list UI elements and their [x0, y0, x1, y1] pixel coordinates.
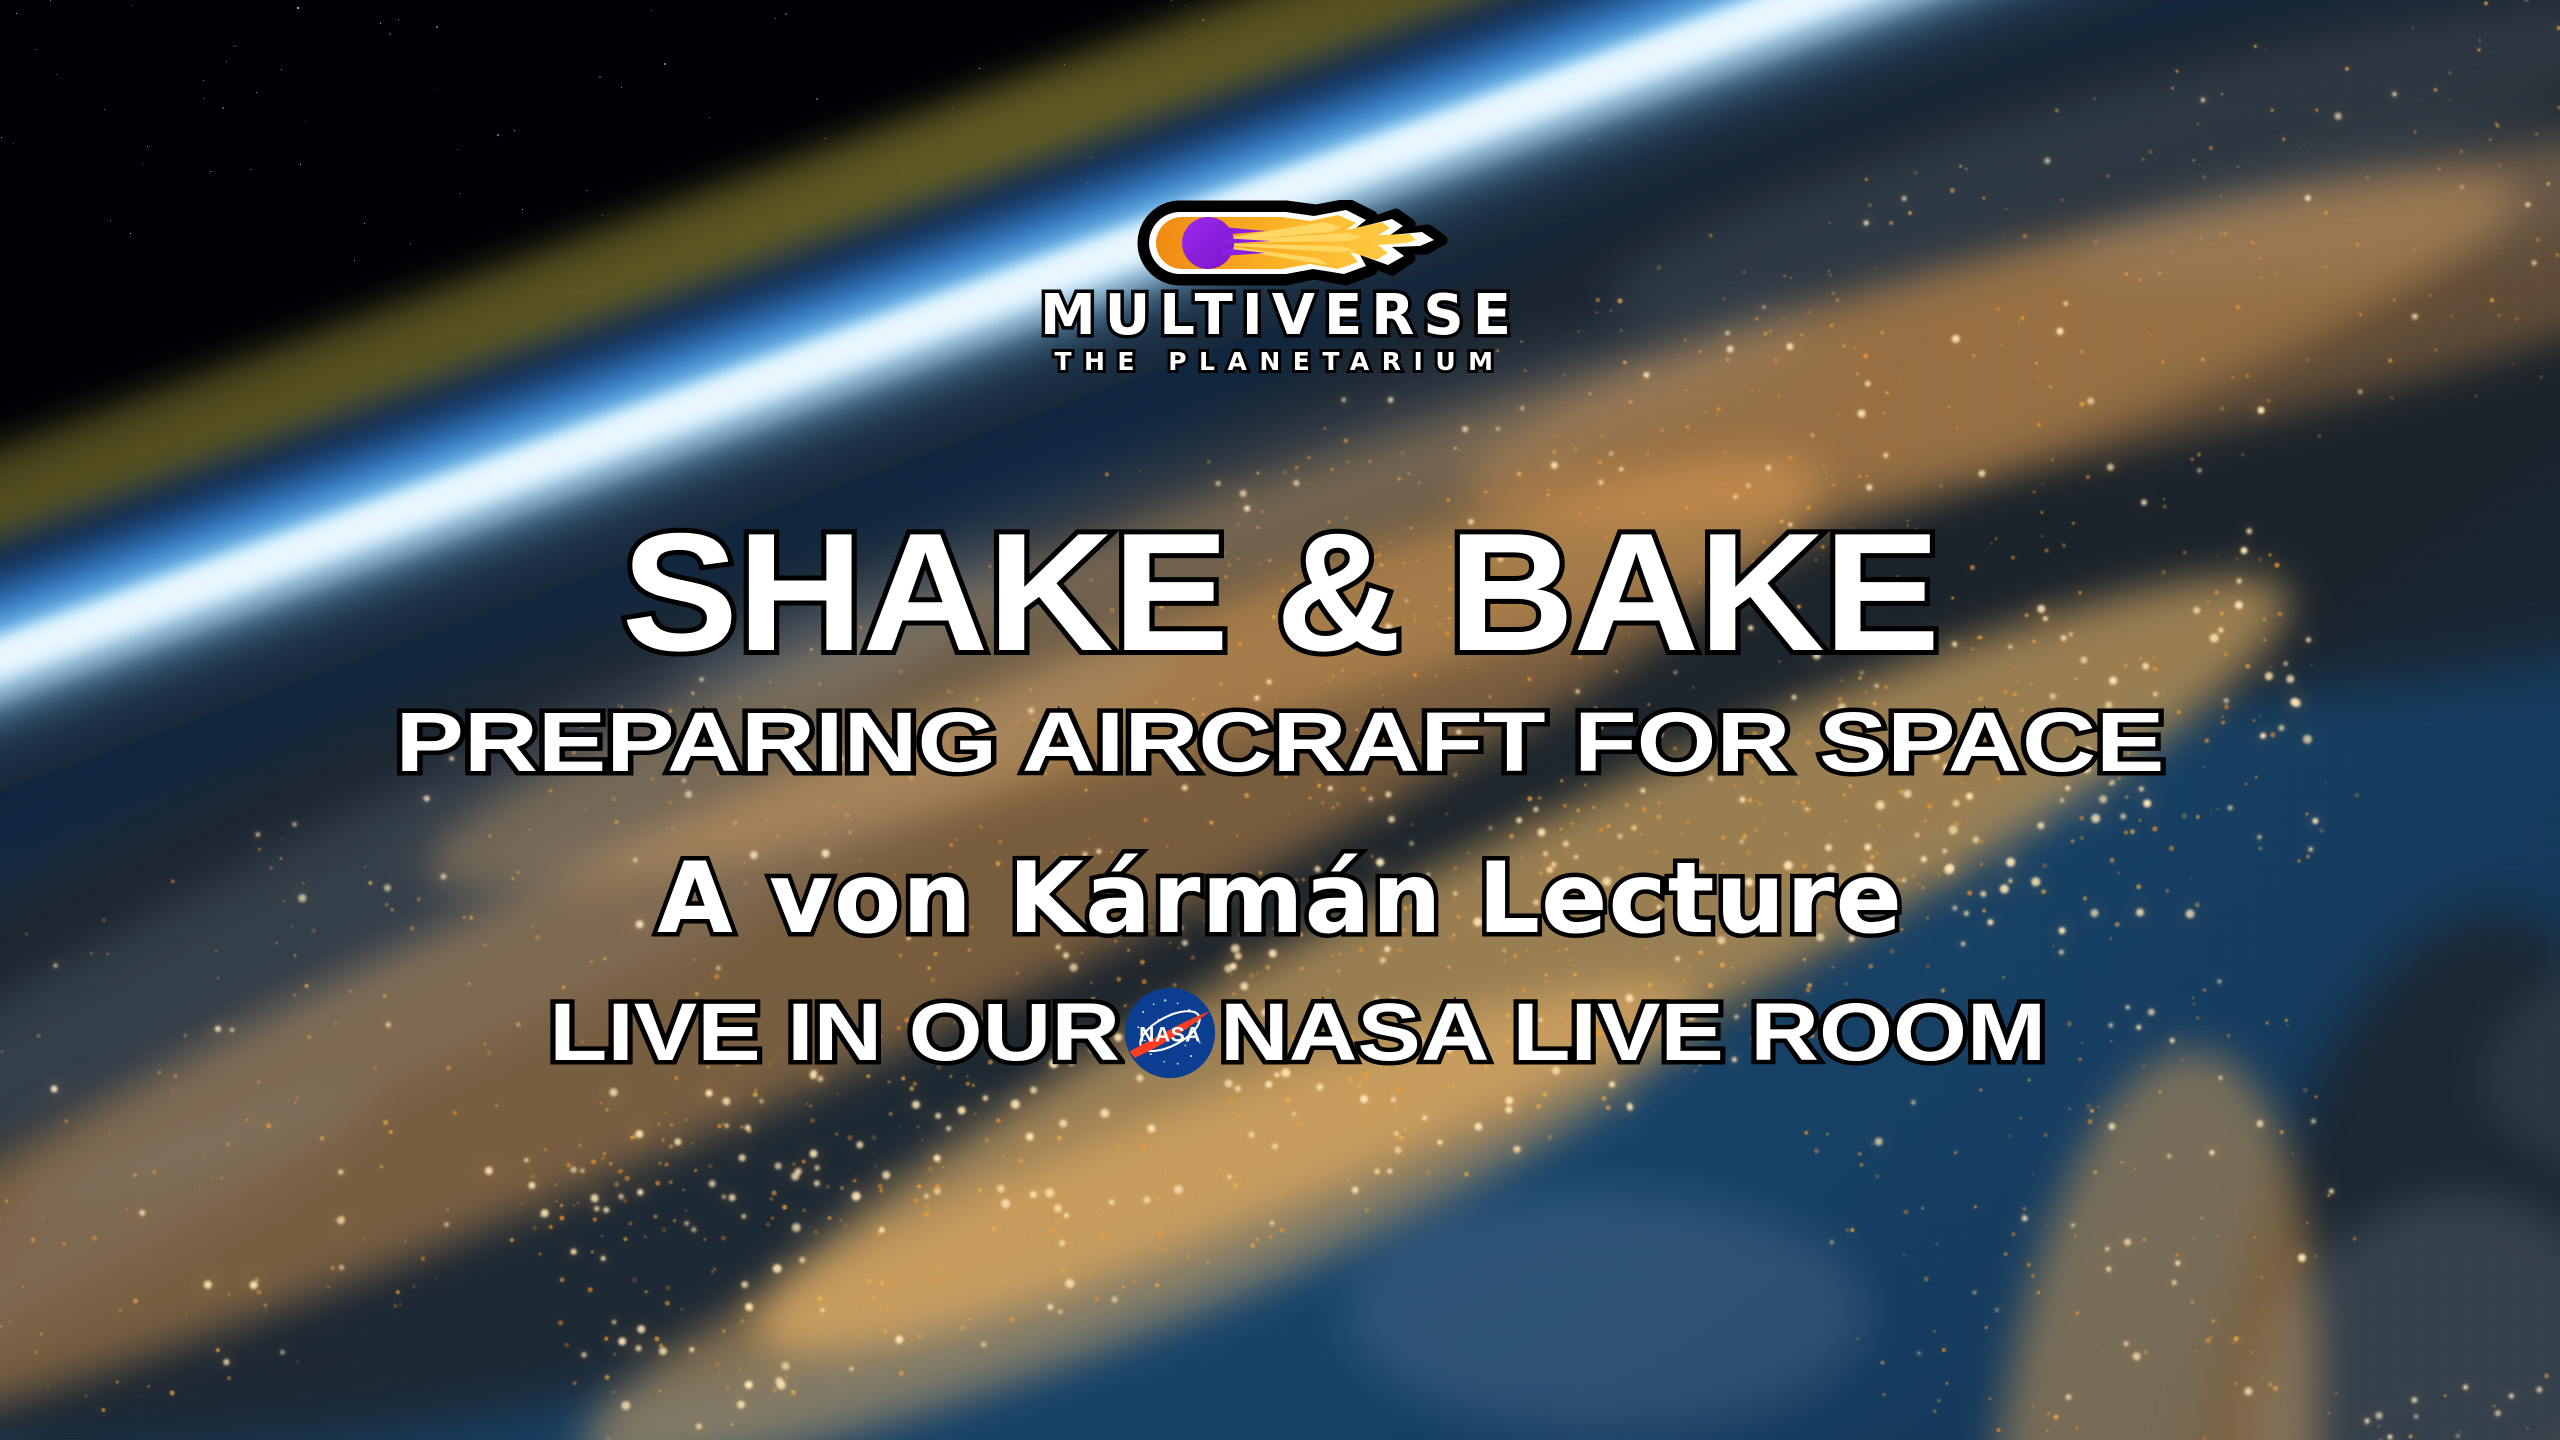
brand-tagline: THE PLANETARIUM [1054, 349, 1505, 374]
nasa-meatball-icon: NASA [1122, 985, 1218, 1081]
lecture-series: A von Kármán Lecture [657, 850, 1903, 948]
lecture-series-row: A von Kármán Lecture [0, 850, 2560, 948]
brand-name: MULTIVERSE [1040, 288, 1520, 344]
nasa-wordmark: NASA [1139, 1024, 1201, 1047]
title-card: MULTIVERSE THE PLANETARIUM SHAKE & BAKE … [0, 0, 2560, 1440]
brand-logo: MULTIVERSE THE PLANETARIUM [1040, 200, 1520, 374]
title-content: MULTIVERSE THE PLANETARIUM SHAKE & BAKE … [0, 0, 2560, 1440]
comet-icon [1110, 200, 1450, 286]
venue-row: LIVE IN OUR NASA [0, 985, 2560, 1081]
event-title: SHAKE & BAKE [621, 512, 1938, 673]
venue-prefix: LIVE IN OUR [549, 992, 1120, 1074]
event-subtitle-row: PREPARING AIRCRAFT FOR SPACE [0, 700, 2560, 784]
event-subtitle: PREPARING AIRCRAFT FOR SPACE [396, 700, 2165, 784]
venue-suffix: NASA LIVE ROOM [1220, 992, 2046, 1074]
event-title-row: SHAKE & BAKE [0, 512, 2560, 673]
